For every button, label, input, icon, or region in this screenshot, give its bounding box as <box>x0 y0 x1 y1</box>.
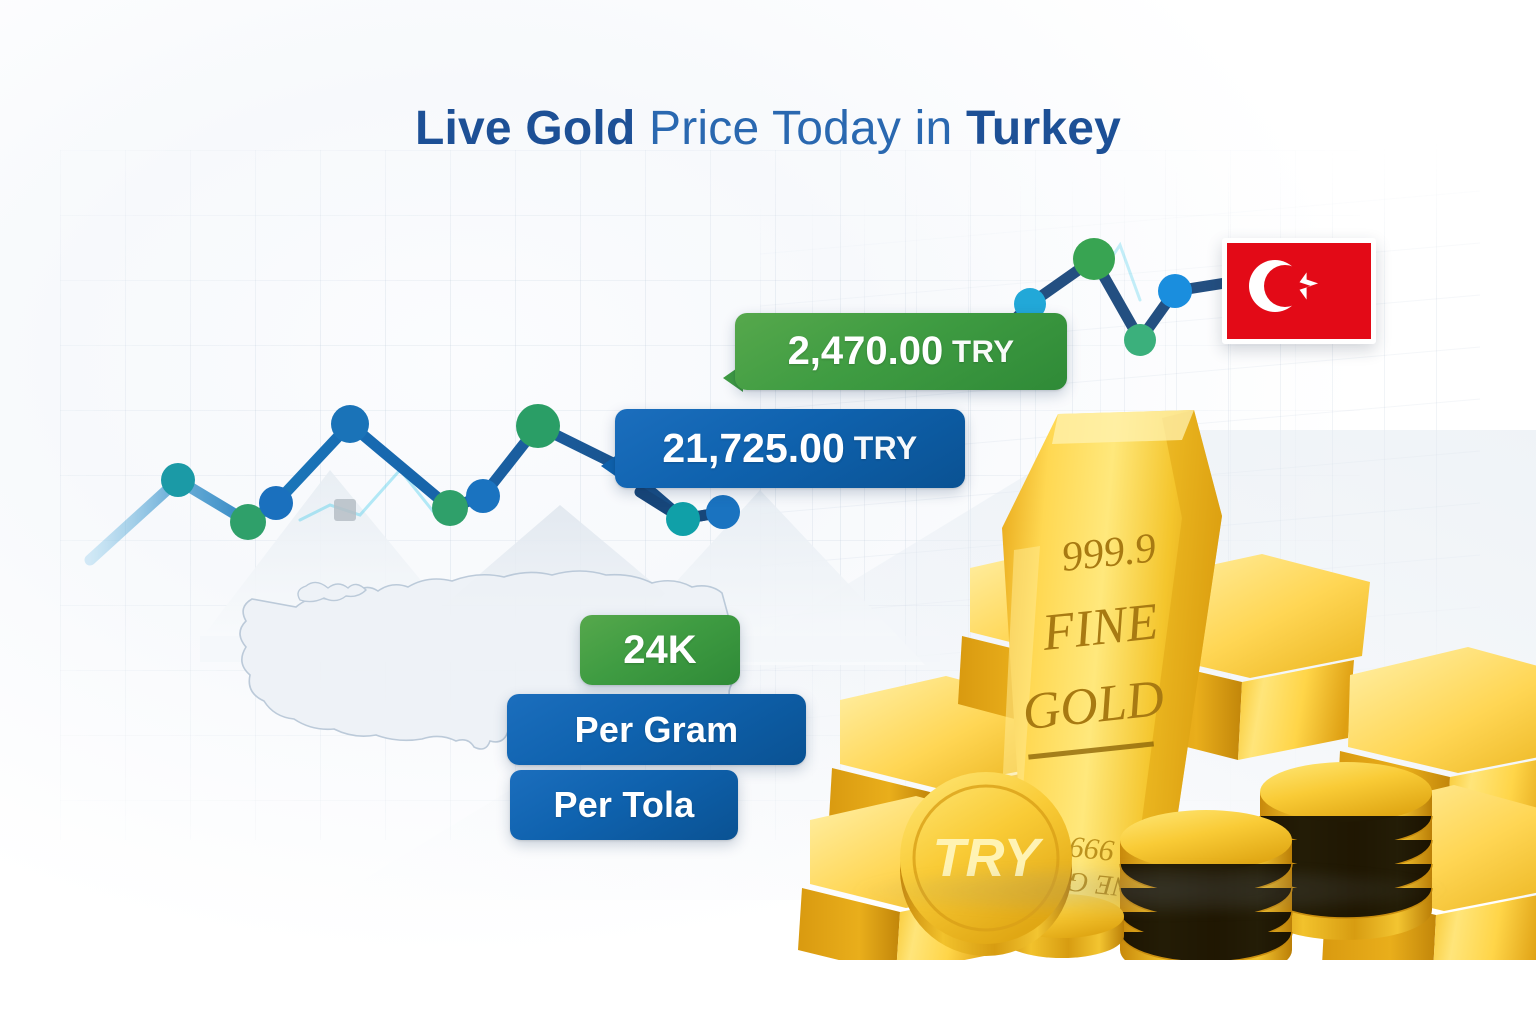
gold-shadow <box>790 855 1510 925</box>
title-bold-turkey: Turkey <box>966 102 1121 155</box>
unit-per-tola-label: Per Tola <box>554 784 695 826</box>
price-per-tola-badge[interactable]: 21,725.00 TRY <box>615 409 965 488</box>
karat-badge[interactable]: 24K <box>580 615 740 685</box>
karat-label: 24K <box>623 628 696 673</box>
turkey-flag-icon <box>1222 238 1376 344</box>
price-per-tola-amount: 21,725.00 <box>662 425 844 472</box>
title-bold-live-gold: Live Gold <box>415 102 636 155</box>
price-per-gram-currency: TRY <box>952 334 1014 370</box>
bar-purity-text: 999.9 <box>1059 525 1158 581</box>
unit-per-tola-badge[interactable]: Per Tola <box>510 770 738 840</box>
price-per-gram-amount: 2,470.00 <box>788 329 944 374</box>
unit-per-gram-badge[interactable]: Per Gram <box>507 694 806 765</box>
bar-fine-text: FINE <box>1039 593 1161 662</box>
infographic-canvas: 999.9 FINE GOLD 999.9 FINE GOLD <box>0 0 1536 1024</box>
price-per-gram-badge[interactable]: 2,470.00 TRY <box>735 313 1067 390</box>
price-per-tola-currency: TRY <box>854 430 918 467</box>
page-title: Live Gold Price Today in Turkey <box>0 98 1536 160</box>
title-light-price-today-in: Price Today in <box>635 102 965 155</box>
unit-per-gram-label: Per Gram <box>575 709 739 751</box>
